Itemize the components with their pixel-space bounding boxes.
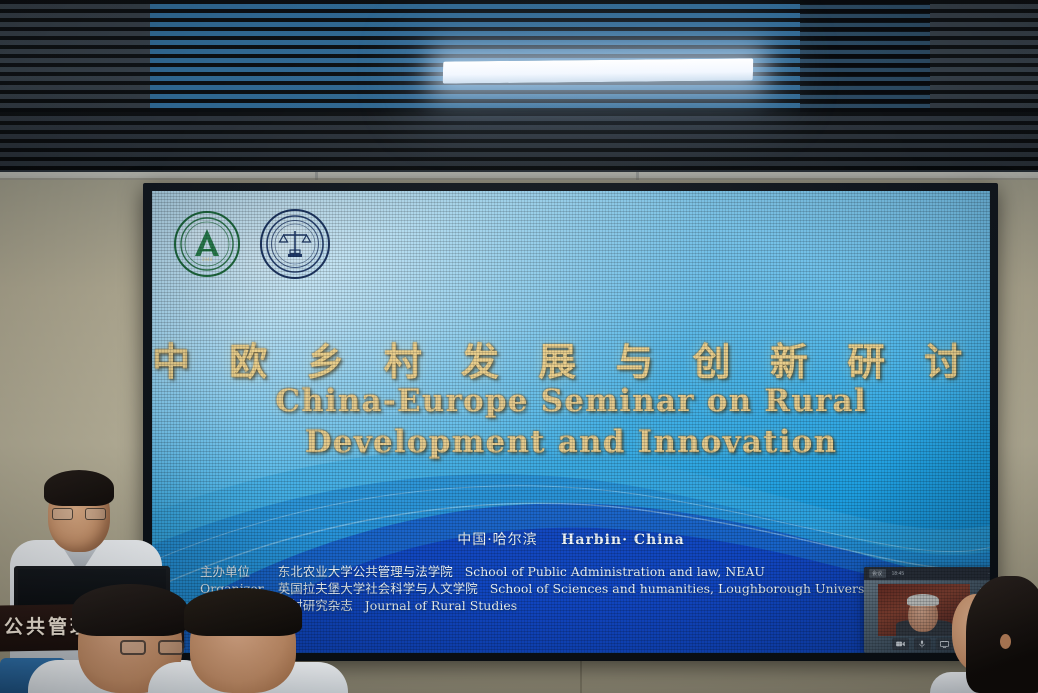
ceiling-lower-slats bbox=[0, 112, 1038, 172]
organizer-list: 东北农业大学公共管理与法学院 School of Public Administ… bbox=[278, 563, 874, 614]
seated-attendee-1-hair bbox=[72, 584, 188, 636]
remote-participant-hair bbox=[907, 594, 939, 606]
organizer-item: 农村研究杂志 Journal of Rural Studies bbox=[278, 597, 874, 614]
video-call-menu-icon[interactable]: ··· bbox=[988, 571, 990, 577]
led-ceiling-light bbox=[443, 58, 754, 83]
neau-university-emblem-icon: 1948 bbox=[174, 211, 240, 277]
standing-presenter-glasses-icon bbox=[52, 508, 106, 520]
video-call-titlebar: 会议 18:45 ··· bbox=[864, 567, 990, 580]
slide-location: 中国·哈尔滨 Harbin· China bbox=[152, 529, 990, 549]
camera-toggle-button[interactable] bbox=[892, 638, 909, 650]
organizer-block: 主办单位 Organizer 东北农业大学公共管理与法学院 School of … bbox=[200, 563, 873, 614]
organizer-name-english: Journal of Rural Studies bbox=[365, 598, 517, 613]
organizer-item: 东北农业大学公共管理与法学院 School of Public Administ… bbox=[278, 563, 874, 580]
microphone-toggle-button[interactable] bbox=[914, 638, 931, 650]
wall-panel-line bbox=[580, 660, 582, 693]
screen-share-button[interactable] bbox=[936, 638, 953, 650]
wall-line bbox=[0, 178, 1038, 180]
law-school-seal-icon bbox=[260, 209, 330, 279]
video-call-time: 18:45 bbox=[892, 571, 905, 577]
organizer-name-english: School of Sciences and humanities, Lough… bbox=[490, 581, 874, 596]
seated-attendee-3-ear bbox=[1000, 634, 1011, 649]
video-call-app-badge: 会议 bbox=[869, 569, 886, 578]
conference-room-scene: 1948 中 欧 乡 村 发 展 与 创 新 研 讨 会 China bbox=[0, 0, 1038, 693]
slide-title-english-line1: China-Europe Seminar on Rural bbox=[152, 383, 990, 419]
organizer-label-chinese: 主办单位 bbox=[200, 563, 264, 580]
ceiling-dark-section bbox=[800, 0, 930, 112]
standing-presenter-hair bbox=[44, 470, 114, 506]
organizer-item: 英国拉夫堡大学社会科学与人文学院 School of Sciences and … bbox=[278, 580, 874, 597]
slide-title-chinese: 中 欧 乡 村 发 展 与 创 新 研 讨 会 bbox=[152, 331, 990, 386]
location-chinese: 中国·哈尔滨 bbox=[457, 532, 537, 548]
slide-title-english-line2: Development and Innovation bbox=[152, 424, 990, 460]
organizer-name-english: School of Public Administration and law,… bbox=[465, 564, 765, 579]
svg-text:1948: 1948 bbox=[202, 257, 213, 262]
location-english: Harbin· China bbox=[561, 532, 685, 548]
seated-attendee-1-glasses-icon bbox=[120, 640, 184, 655]
led-screen: 1948 中 欧 乡 村 发 展 与 创 新 研 讨 会 China bbox=[152, 191, 990, 653]
organizer-name-chinese: 东北农业大学公共管理与法学院 bbox=[278, 564, 453, 579]
seated-attendee-2-hair bbox=[184, 588, 302, 636]
organizer-name-chinese: 英国拉夫堡大学社会科学与人文学院 bbox=[278, 581, 478, 596]
slide-logos: 1948 bbox=[174, 209, 330, 279]
